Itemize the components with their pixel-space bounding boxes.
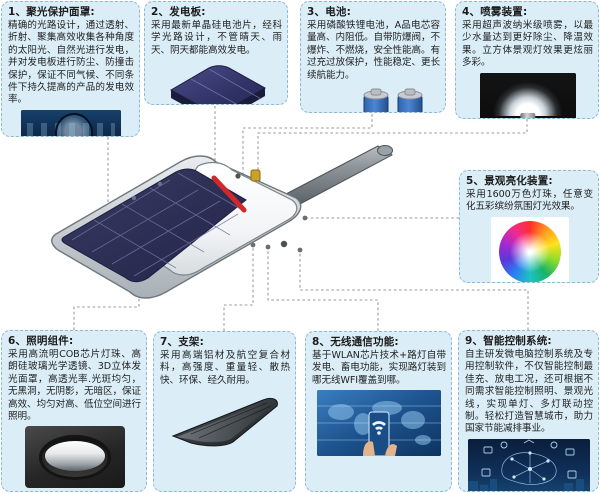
panel-body: 采用高端铝材及航空复合材料，高强度、重量轻、散热快、环保、经久耐用。 <box>160 350 290 387</box>
cob-led-module-photo <box>25 426 125 488</box>
panel-title: 2、发电板: <box>151 6 282 19</box>
panel-body: 采用1600万色灯珠，任意变化五彩缤纷氛围灯光效果。 <box>466 189 593 214</box>
panel-light-condensing-cover[interactable]: 1、聚光保护面罩: 精确的光路设计，通过透射、折射、聚集高效收集各种角度的太阳光… <box>1 1 140 137</box>
panel-lighting-assembly[interactable]: 6、照明组件: 采用高流明COB芯片灯珠、高朗硅玻璃光学透镜、3D立体发光面罩，… <box>1 330 147 492</box>
panel-wireless-communication[interactable]: 8、无线通信功能: 基于WLAN芯片技术+路灯自带发电、畜电功能，实现路灯装到哪… <box>305 331 452 492</box>
panel-power-generation-board[interactable]: 2、发电板: 采用最新单晶硅电池片，经科学光路设计，不管晴天、雨天、阴天都能高效… <box>144 1 288 105</box>
ultrasonic-mist-nozzle-photo <box>480 73 576 119</box>
panel-title: 8、无线通信功能: <box>312 336 446 349</box>
monocrystalline-solar-cell-photo <box>161 60 273 105</box>
wireless-wifi-coverage-photo <box>317 390 441 456</box>
product-image <box>48 138 398 323</box>
panel-body: 自主研发微电脑控制系统及专用控制软件，不仅智能控制最佳充、放电工况，还可根据不同… <box>465 349 593 436</box>
panel-body: 采用磷酸铁锂电池，A品电芯容量高、内阻低。自带防爆阀，不爆炸、不燃烧，安全性能高… <box>307 20 440 82</box>
panel-landscape-lighting[interactable]: 5、景观亮化装置: 采用1600万色灯珠，任意变化五彩缤纷氛围灯光效果。 <box>459 170 599 283</box>
panel-title: 3、电池: <box>307 6 440 19</box>
smart-city-control-photo <box>468 439 590 492</box>
rgb-color-wheel-photo <box>491 217 569 283</box>
light-condensing-lens-photo <box>21 110 121 137</box>
panel-body: 采用最新单晶硅电池片，经科学光路设计，不管晴天、雨天、阴天都能高效发电。 <box>151 20 282 57</box>
mounting-arm <box>286 146 393 205</box>
panel-intelligent-control-system[interactable]: 9、智能控制系统: 自主研发微电脑控制系统及专用控制软件，不仅智能控制最佳充、放… <box>458 330 599 492</box>
panel-body: 精确的光路设计，通过透射、折射、聚集高效收集各种角度的太阳光、自然光进行发电，并… <box>8 20 134 107</box>
panel-body: 采用高流明COB芯片灯珠、高朗硅玻璃光学透镜、3D立体发光面罩，高透光率.光斑均… <box>8 349 141 423</box>
panel-title: 6、照明组件: <box>8 335 141 348</box>
panel-title: 9、智能控制系统: <box>465 335 593 348</box>
panel-mist-device[interactable]: 4、喷雾装置: 采用超声波纳米级喷雾，以最少水量达到更好除尘、降温效果。立方体景… <box>455 1 599 119</box>
panel-body: 采用超声波纳米级喷雾，以最少水量达到更好除尘、降温效果。立方体景观灯效果更炫丽多… <box>462 20 593 70</box>
solar-street-light-illustration <box>48 138 398 323</box>
infographic-canvas: 1、聚光保护面罩: 精确的光路设计，通过透射、折射、聚集高效收集各种角度的太阳光… <box>0 0 600 493</box>
panel-battery[interactable]: 3、电池: 采用磷酸铁锂电池，A品电芯容量高、内阻低。自带防爆阀，不爆炸、不燃烧… <box>300 1 446 113</box>
mist-nozzle-fitting <box>251 170 260 181</box>
panel-body: 基于WLAN芯片技术+路灯自带发电、畜电功能，实现路灯装到哪无线WFI覆盖到哪。 <box>312 350 446 387</box>
panel-title: 4、喷雾装置: <box>462 6 593 19</box>
panel-title: 5、景观亮化装置: <box>466 175 593 188</box>
aluminum-bracket-photo <box>167 390 283 448</box>
panel-title: 7、支架: <box>160 336 290 349</box>
panel-title: 1、聚光保护面罩: <box>8 6 134 19</box>
panel-bracket[interactable]: 7、支架: 采用高端铝材及航空复合材料，高强度、重量轻、散热快、环保、经久耐用。 <box>153 331 296 492</box>
lithium-iron-phosphate-cells-photo <box>350 85 438 113</box>
